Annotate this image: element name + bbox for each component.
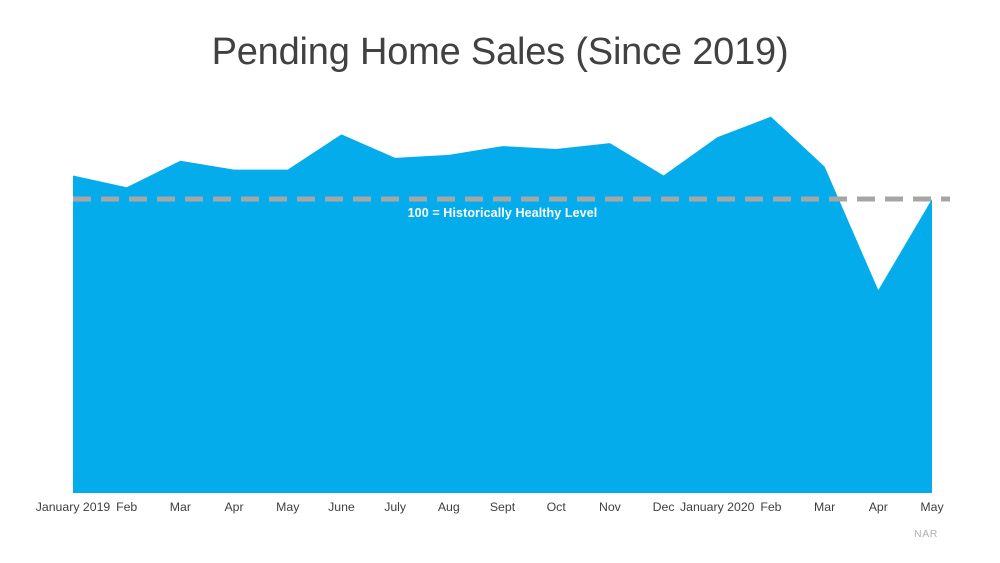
x-axis-tick-label: Mar [170, 499, 191, 515]
x-axis-tick-label: May [276, 499, 299, 515]
x-axis: January 2019FebMarAprMayJuneJulyAugSeptO… [0, 499, 1000, 519]
x-axis-tick-label: May [920, 499, 943, 515]
x-axis-tick-label: Feb [760, 499, 781, 515]
x-axis-tick-label: June [328, 499, 355, 515]
x-axis-tick-label: Dec [653, 499, 675, 515]
x-axis-tick-label: Feb [116, 499, 137, 515]
x-axis-tick-label: Mar [814, 499, 835, 515]
x-axis-tick-label: Nov [599, 499, 621, 515]
source-attribution: NAR [914, 528, 938, 540]
x-axis-tick-label: Aug [438, 499, 460, 515]
x-axis-tick-label: Apr [869, 499, 888, 515]
x-axis-tick-label: Oct [547, 499, 566, 515]
x-axis-tick-label: January 2020 [680, 499, 755, 515]
x-axis-tick-label: Sept [490, 499, 515, 515]
chart-container: Pending Home Sales (Since 2019) 100 = Hi… [0, 0, 1000, 563]
x-axis-tick-label: July [384, 499, 406, 515]
x-axis-tick-label: January 2019 [36, 499, 111, 515]
x-axis-tick-label: Apr [224, 499, 243, 515]
reference-line-annotation: 100 = Historically Healthy Level [73, 206, 932, 220]
area-series-pending-home-sales [73, 117, 932, 493]
area-chart-plot [0, 0, 1000, 563]
